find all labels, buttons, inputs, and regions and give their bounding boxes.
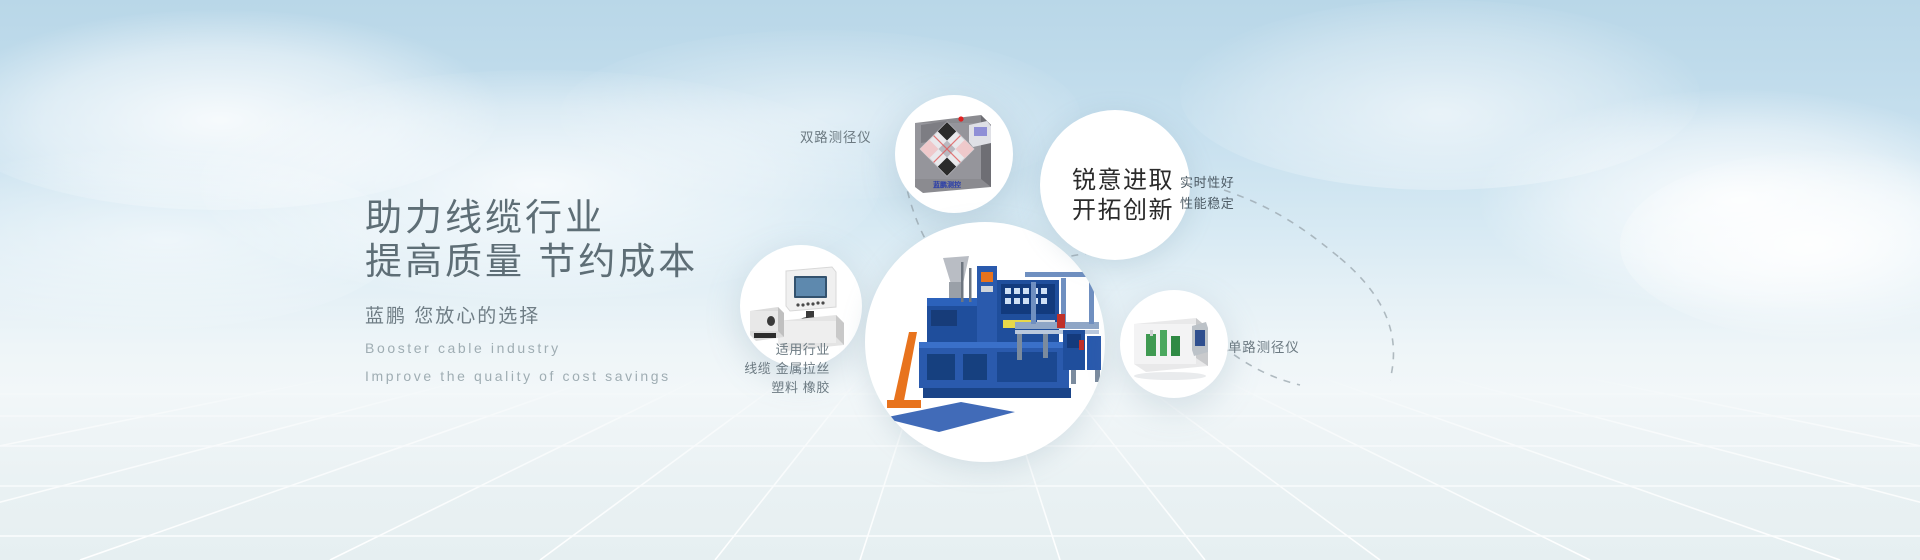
label-dual-gauge: 双路测径仪 [800,128,872,148]
applications-line-2: 塑料 橡胶 [730,378,830,397]
slogan-line-1: 锐意进取 [1072,166,1174,196]
subtitle-english-1: Booster cable industry [365,340,698,356]
bubble-dual-gauge: 蓝鹏测控 [895,95,1013,213]
hero-banner: 助力线缆行业 提高质量 节约成本 蓝鹏 您放心的选择 Booster cable… [0,0,1920,560]
feature-line-1: 实时性好 [1180,172,1234,193]
headline-line-2: 提高质量 节约成本 [365,240,698,284]
subtitle-chinese: 蓝鹏 您放心的选择 [365,301,698,328]
production-line-image [865,222,1105,462]
feature-line-2: 性能稳定 [1180,193,1234,214]
single-gauge-device-image [1120,290,1228,398]
subtitle-english-2: Improve the quality of cost savings [365,368,698,384]
slogan-line-2: 开拓创新 [1072,196,1174,226]
cloud-decoration [0,10,500,210]
svg-text:蓝鹏测控: 蓝鹏测控 [933,180,961,189]
label-single-gauge: 单路测径仪 [1228,338,1300,358]
product-cluster: 蓝鹏测控 双路测径仪 [700,0,1920,560]
bubble-single-gauge [1120,290,1228,398]
headline-block: 助力线缆行业 提高质量 节约成本 蓝鹏 您放心的选择 Booster cable… [365,196,698,384]
dual-gauge-device-image: 蓝鹏测控 [895,95,1013,213]
label-applications: 适用行业 线缆 金属拉丝 塑料 橡胶 [730,340,830,397]
applications-line-1: 线缆 金属拉丝 [730,359,830,378]
feature-text: 实时性好 性能稳定 [1180,172,1234,214]
headline-line-1: 助力线缆行业 [365,196,698,240]
applications-title: 适用行业 [730,340,830,359]
cloud-decoration [0,150,400,330]
bubble-production-line [865,222,1105,462]
slogan-text: 锐意进取 开拓创新 [1072,166,1174,226]
